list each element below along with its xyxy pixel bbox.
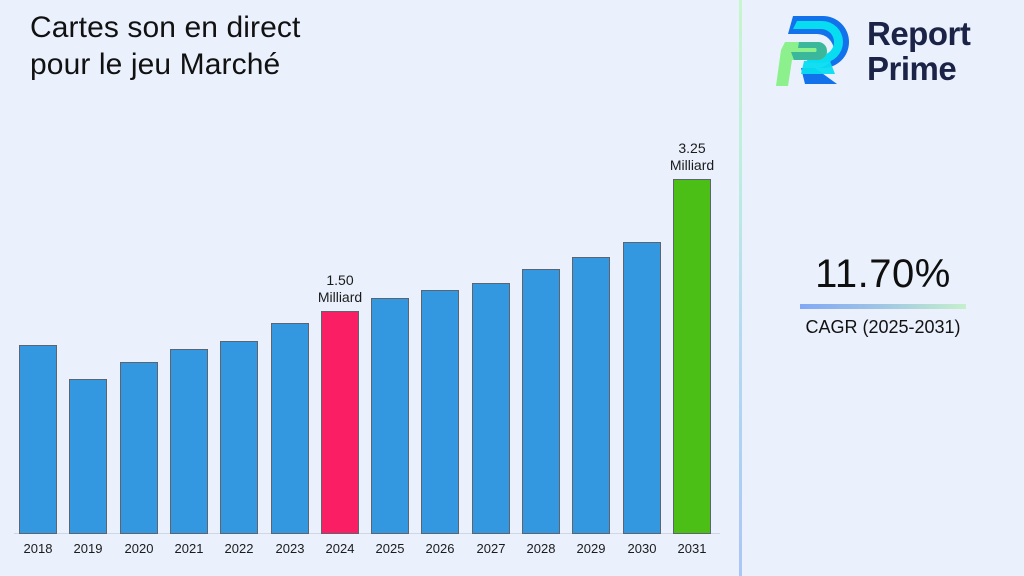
- bar-2019[interactable]: [69, 379, 107, 534]
- cagr-value: 11.70%: [742, 250, 1024, 298]
- x-tick-label-2031: 2031: [665, 541, 719, 557]
- bar-2028[interactable]: [522, 269, 560, 534]
- bar-2021[interactable]: [170, 349, 208, 534]
- x-tick-label-2022: 2022: [212, 541, 266, 557]
- x-tick-label-2019: 2019: [61, 541, 115, 557]
- x-tick-label-2027: 2027: [464, 541, 518, 557]
- bar-2027[interactable]: [472, 283, 510, 534]
- x-tick-label-2023: 2023: [263, 541, 317, 557]
- x-tick-label-2018: 2018: [11, 541, 65, 557]
- bar-2026[interactable]: [421, 290, 459, 534]
- x-tick-label-2020: 2020: [112, 541, 166, 557]
- bar-2024[interactable]: [321, 311, 359, 534]
- report-chart-page: Cartes son en direct pour le jeu Marché …: [0, 0, 1024, 576]
- x-tick-label-2026: 2026: [413, 541, 467, 557]
- report-prime-logo: Report Prime: [775, 10, 1000, 92]
- x-tick-label-2021: 2021: [162, 541, 216, 557]
- bar-2020[interactable]: [120, 362, 158, 534]
- x-tick-label-2025: 2025: [363, 541, 417, 557]
- cagr-label: CAGR (2025-2031): [742, 316, 1024, 338]
- logo-wordmark: Report Prime: [867, 16, 970, 86]
- bar-2023[interactable]: [271, 323, 309, 534]
- x-tick-label-2024: 2024: [313, 541, 367, 557]
- x-tick-label-2028: 2028: [514, 541, 568, 557]
- bar-2022[interactable]: [220, 341, 258, 534]
- cagr-block: 11.70% CAGR (2025-2031): [742, 250, 1024, 338]
- bar-2029[interactable]: [572, 257, 610, 534]
- report-prime-logo-icon: [775, 12, 855, 90]
- bar-2025[interactable]: [371, 298, 409, 534]
- chart-panel: Cartes son en direct pour le jeu Marché …: [0, 0, 740, 576]
- bar-2030[interactable]: [623, 242, 661, 534]
- bar-chart-plot: 20182019202020212022202320241.50 Milliar…: [0, 0, 740, 534]
- bar-2018[interactable]: [19, 345, 57, 534]
- bar-2031[interactable]: [673, 179, 711, 534]
- brand-panel: Report Prime 11.70% CAGR (2025-2031): [742, 0, 1024, 576]
- bar-value-label-2031: 3.25 Milliard: [647, 140, 737, 174]
- cagr-divider-rule: [800, 304, 966, 309]
- x-tick-label-2030: 2030: [615, 541, 669, 557]
- x-tick-label-2029: 2029: [564, 541, 618, 557]
